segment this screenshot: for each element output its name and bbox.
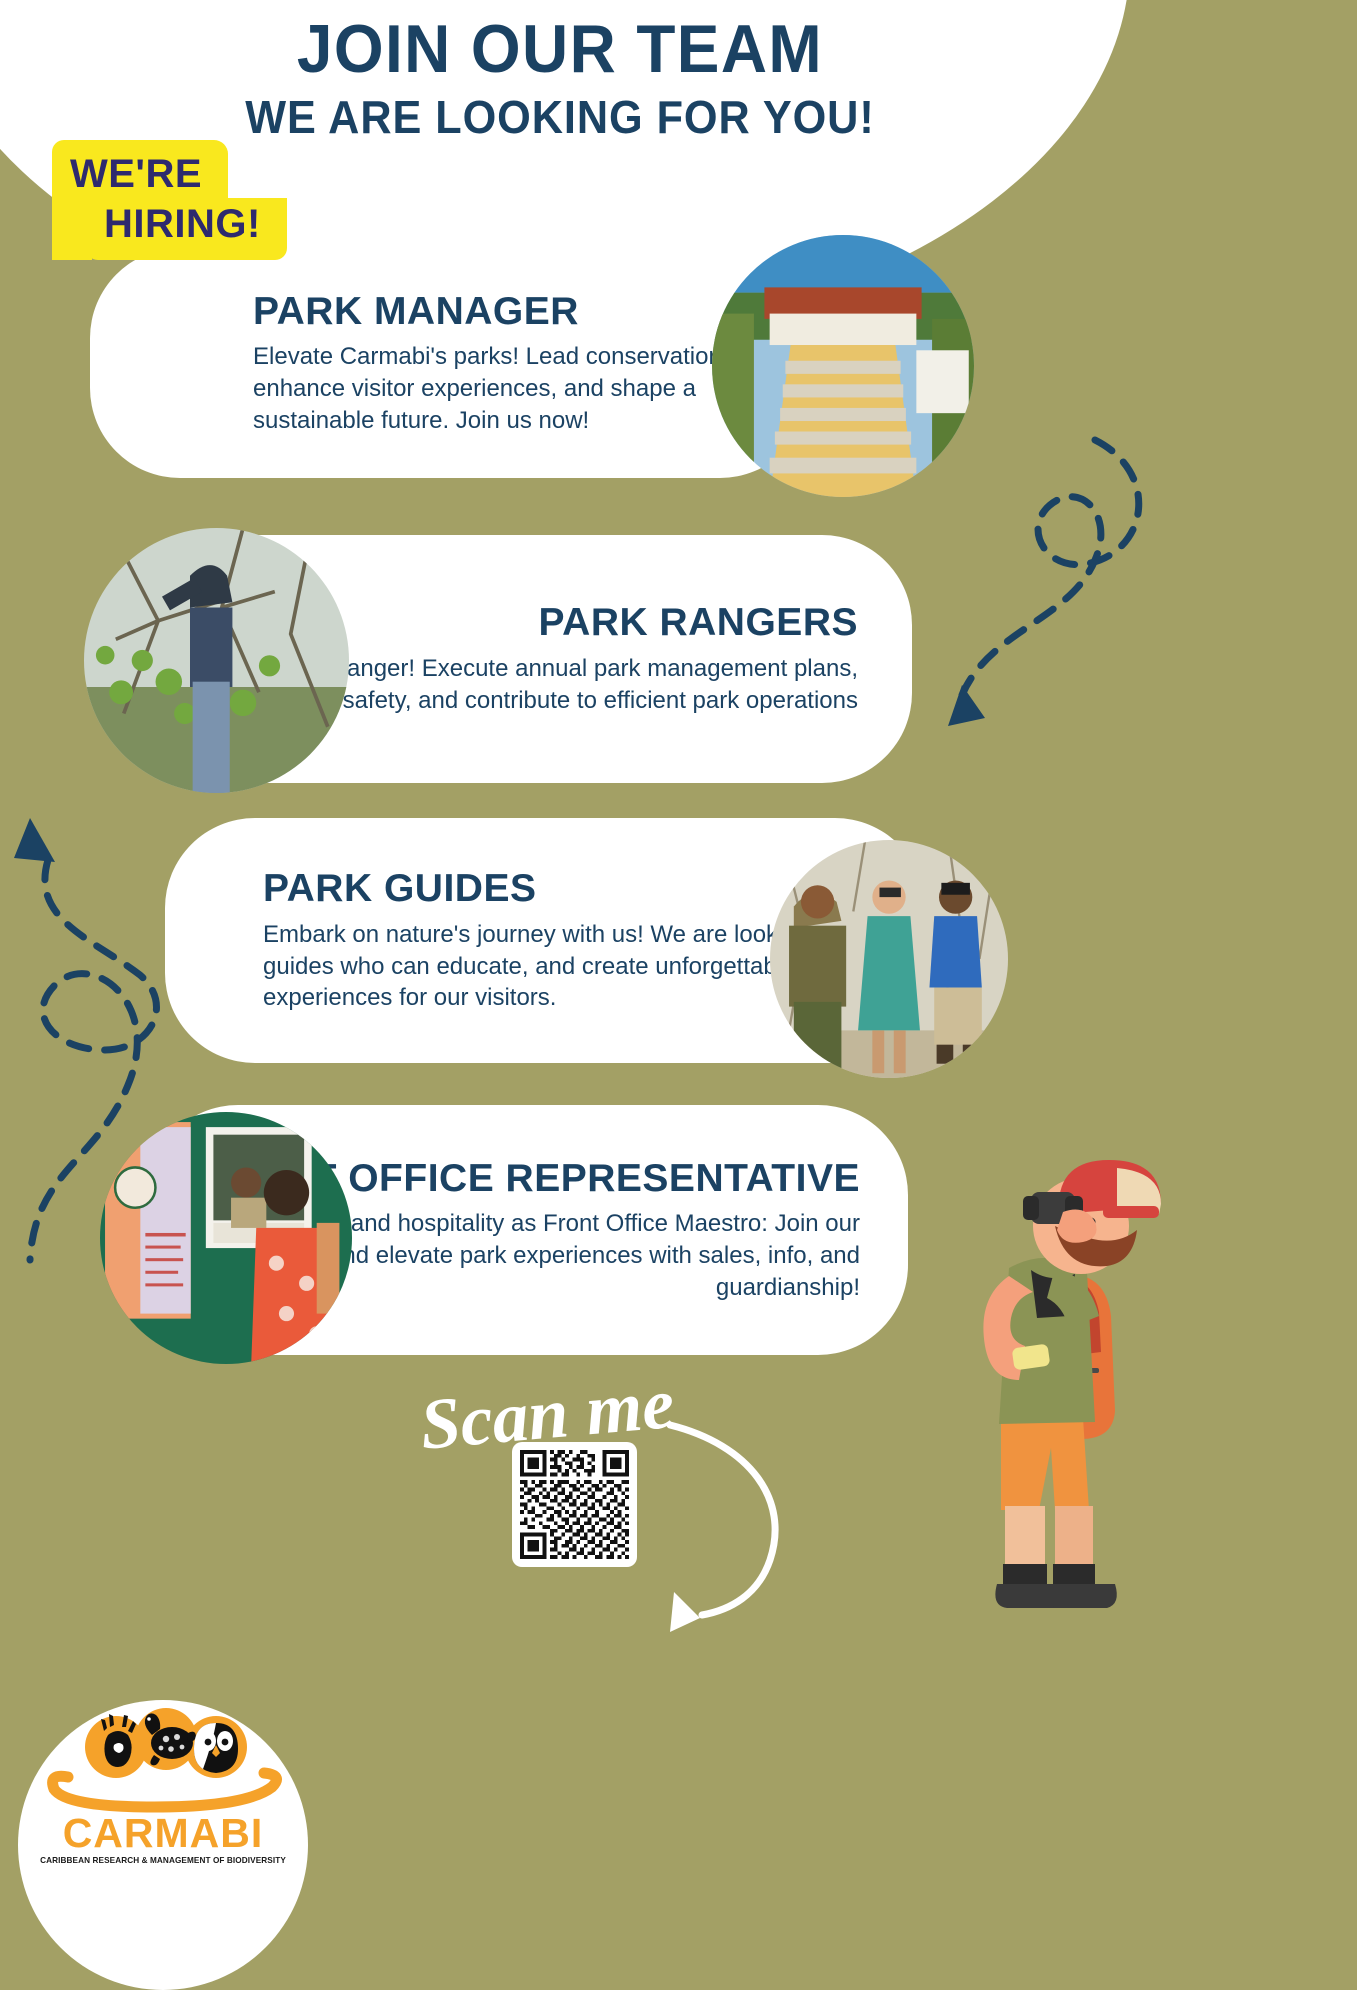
photo-park-guides: [770, 840, 1008, 1078]
dashed-arrow-qr-decoration: [640, 1410, 820, 1650]
badge-line-1: WE'RE: [52, 140, 228, 202]
hiker-with-binoculars-illustration: [905, 1118, 1195, 1618]
photo-front-office: [100, 1112, 352, 1364]
carmabi-logo: CARMABI CARIBBEAN RESEARCH & MANAGEMENT …: [38, 1705, 288, 1865]
badge-line-2: HIRING!: [86, 198, 287, 260]
page-subtitle: WE ARE LOOKING FOR YOU!: [34, 91, 1087, 144]
poster-root: JOIN OUR TEAM WE ARE LOOKING FOR YOU! WE…: [0, 0, 1357, 1920]
carmabi-tagline: CARIBBEAN RESEARCH & MANAGEMENT OF BIODI…: [38, 1856, 288, 1865]
qr-code[interactable]: [512, 1442, 637, 1567]
were-hiring-badge: WE'RE HIRING!: [52, 140, 287, 260]
job-card-park-manager[interactable]: PARK MANAGER Elevate Carmabi's parks! Le…: [90, 248, 810, 478]
photo-park-manager: [712, 235, 974, 497]
header-text-block: JOIN OUR TEAM WE ARE LOOKING FOR YOU!: [0, 14, 1120, 144]
page-title: JOIN OUR TEAM: [34, 14, 1087, 85]
photo-park-rangers: [84, 528, 349, 793]
carmabi-wordmark: CARMABI: [38, 1813, 288, 1854]
